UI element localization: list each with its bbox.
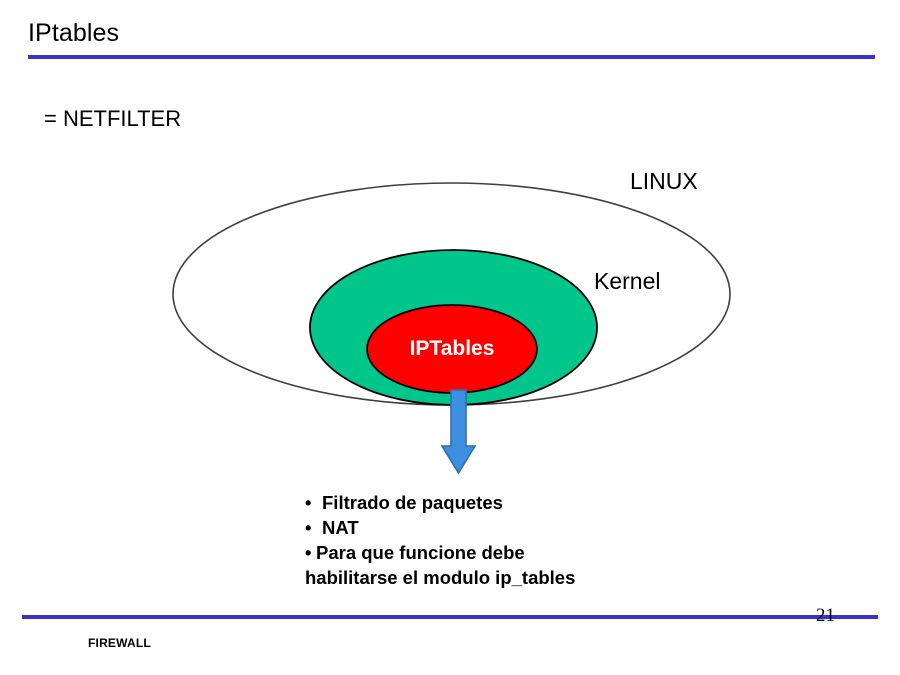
kernel-ellipse bbox=[310, 250, 597, 405]
list-item: •NAT bbox=[305, 515, 725, 540]
bullet-marker-icon: • bbox=[305, 490, 322, 515]
page-number: 21 bbox=[816, 605, 835, 627]
list-item: •Filtrado de paquetes bbox=[305, 490, 725, 515]
page-title: IPtables bbox=[28, 18, 119, 48]
list-item-label: NAT bbox=[322, 517, 359, 538]
feature-bullet-list: •Filtrado de paquetes •NAT •Para que fun… bbox=[305, 490, 725, 590]
title-divider bbox=[28, 55, 875, 59]
bullet-marker-icon: • bbox=[305, 540, 316, 565]
footer-label: FIREWALL bbox=[88, 636, 151, 650]
linux-label: LINUX bbox=[630, 168, 698, 195]
kernel-label: Kernel bbox=[594, 268, 660, 295]
subtitle-netfilter: = NETFILTER bbox=[44, 106, 181, 132]
list-item-continuation: habilitarse el modulo ip_tables bbox=[305, 565, 725, 590]
list-item: •Para que funcione debe habilitarse el m… bbox=[305, 540, 725, 590]
down-arrow-icon bbox=[442, 390, 475, 473]
footer-divider bbox=[22, 615, 878, 619]
slide-canvas: IPtables = NETFILTER LINUX Kernel IPTabl… bbox=[0, 0, 900, 675]
bullet-marker-icon: • bbox=[305, 515, 322, 540]
list-item-label: Filtrado de paquetes bbox=[322, 492, 503, 513]
list-item-label: Para que funcione debe bbox=[316, 542, 525, 563]
iptables-label: IPTables bbox=[367, 337, 537, 361]
